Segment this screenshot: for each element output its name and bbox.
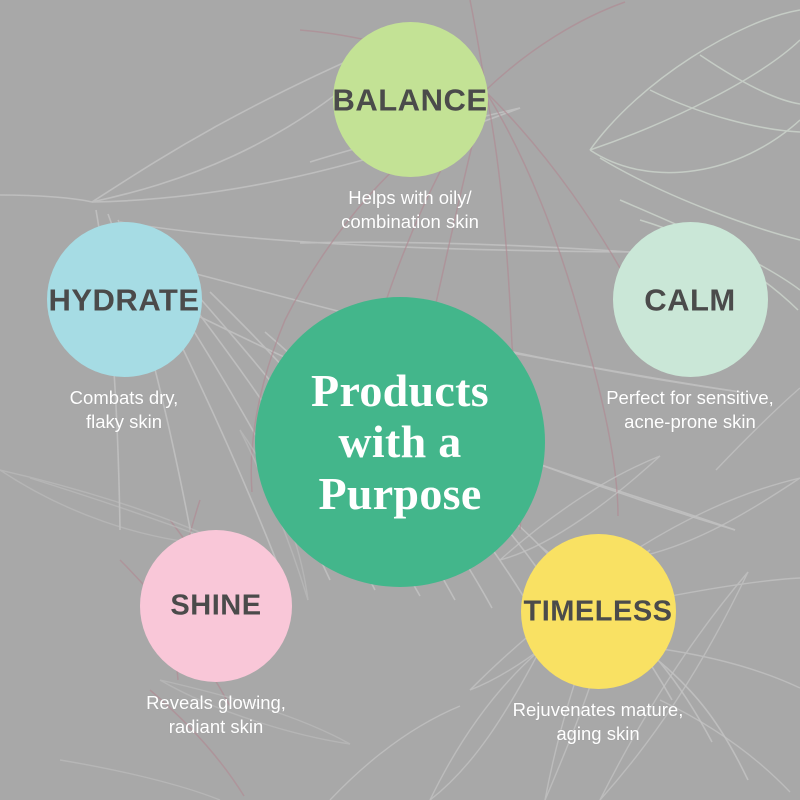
bubble-caption-timeless: Rejuvenates mature, aging skin <box>513 698 684 745</box>
bubble-caption-balance: Helps with oily/ combination skin <box>341 186 479 233</box>
bubble-group-shine[interactable]: SHINE Reveals glowing, radiant skin <box>108 530 324 738</box>
bubble-shine[interactable]: SHINE <box>140 530 292 682</box>
bubble-calm[interactable]: CALM <box>613 222 768 377</box>
bubble-caption-shine: Reveals glowing, radiant skin <box>146 691 286 738</box>
bubble-label-shine: SHINE <box>170 592 261 621</box>
infographic-canvas: Products with a Purpose BALANCE Helps wi… <box>0 0 800 800</box>
bubble-caption-calm: Perfect for sensitive, acne-prone skin <box>606 386 774 433</box>
bubble-label-balance: BALANCE <box>332 84 487 115</box>
bubble-group-hydrate[interactable]: HYDRATE Combats dry, flaky skin <box>16 222 232 433</box>
bubble-hydrate[interactable]: HYDRATE <box>47 222 202 377</box>
bubble-label-hydrate: HYDRATE <box>48 284 199 315</box>
center-title: Products with a Purpose <box>311 365 489 520</box>
bubble-group-calm[interactable]: CALM Perfect for sensitive, acne-prone s… <box>582 222 798 433</box>
bubble-timeless[interactable]: TIMELESS <box>521 534 676 689</box>
bubble-group-timeless[interactable]: TIMELESS Rejuvenates mature, aging skin <box>490 534 706 745</box>
bubble-label-timeless: TIMELESS <box>523 597 672 626</box>
bubble-group-balance[interactable]: BALANCE Helps with oily/ combination ski… <box>302 22 518 233</box>
bubble-balance[interactable]: BALANCE <box>333 22 488 177</box>
bubble-label-calm: CALM <box>644 284 736 315</box>
bubble-caption-hydrate: Combats dry, flaky skin <box>70 386 179 433</box>
